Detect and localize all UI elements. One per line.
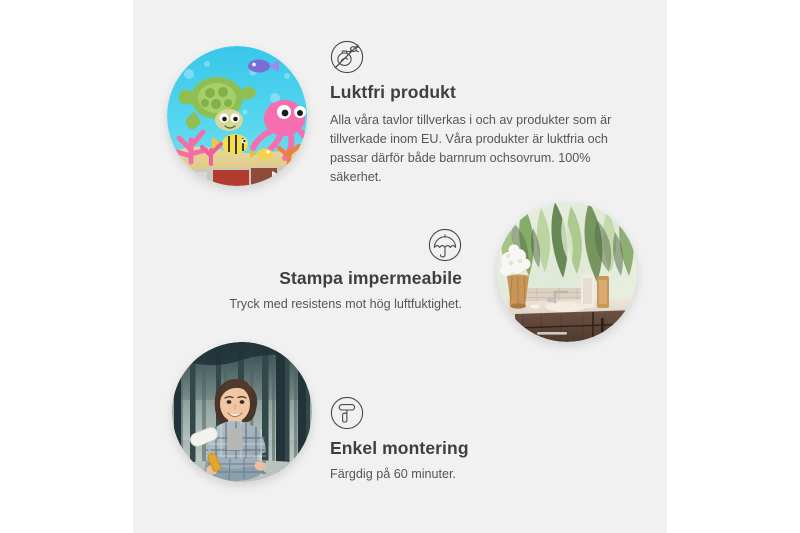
no-perfume-spray-icon [330,40,630,74]
umbrella-icon [160,228,462,262]
sea-illustration [167,46,307,186]
forest-illustration [172,342,312,482]
feature-title: Luktfri produkt [330,82,630,104]
photo-clip [497,202,637,342]
feature-title: Stampa impermeabile [160,268,462,290]
feature-waterproof-print: Stampa impermeabile Tryck med resistens … [160,228,462,314]
feature-body: Tryck med resistens mot hög luftfuktighe… [160,295,462,314]
paint-roller-icon [330,396,620,430]
feature-title: Enkel montering [330,438,620,460]
feature-body: Färgdig på 60 minuter. [330,465,620,484]
feature-easy-mounting: Enkel montering Färgdig på 60 minuter. [330,396,620,484]
feature-body: Alla våra tavlor tillverkas i och av pro… [330,111,630,188]
photo-clip [172,342,312,482]
bathroom-illustration [497,202,637,342]
bathroom-tropical-wallpaper-photo [497,202,637,342]
underwater-cartoon-mural-photo [167,46,307,186]
photo-clip [167,46,307,186]
promo-graphic: Luktfri produkt Alla våra tavlor tillver… [0,0,800,533]
feature-odor-free: Luktfri produkt Alla våra tavlor tillver… [330,40,630,187]
woman-paint-roller-forest-photo [172,342,312,482]
